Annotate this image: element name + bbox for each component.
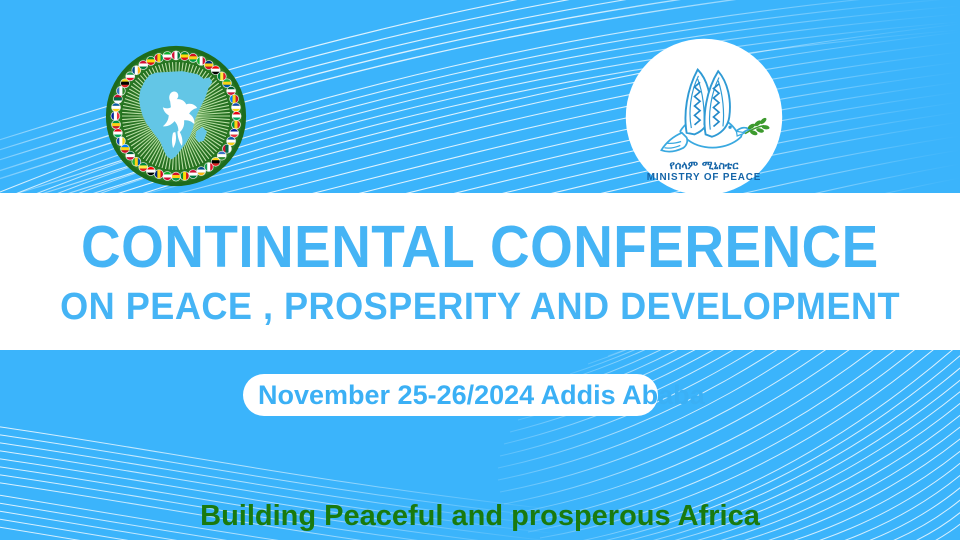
member-flag-roundel [171, 51, 180, 60]
african-union-emblem [103, 43, 249, 189]
logo-label-english: MINISTRY OF PEACE [647, 172, 761, 183]
member-flag-roundel [154, 53, 163, 62]
member-flag-roundel [231, 120, 240, 129]
member-flag-roundel [226, 86, 235, 95]
member-flag-roundel [171, 172, 180, 181]
member-flag-roundel [188, 169, 197, 178]
member-flag-roundel [116, 136, 125, 145]
member-flag-roundel [231, 103, 240, 112]
member-flag-roundel [111, 103, 120, 112]
member-flag-roundel [180, 51, 189, 60]
member-flag-roundel [232, 111, 241, 120]
member-flag-roundel [146, 56, 155, 65]
conference-banner: የሰላም ሚኒስቴር MINISTRY OF PEACE CONTINENTAL… [0, 0, 960, 540]
tagline: Building Peaceful and prosperous Africa [0, 499, 960, 533]
ministry-of-peace-logo: የሰላም ሚኒስቴር MINISTRY OF PEACE [625, 38, 783, 196]
member-flag-roundel [113, 128, 122, 137]
date-location-text: November 25-26/2024 Addis Ababa [258, 378, 705, 412]
logo-label-amharic: የሰላም ሚኒስቴር [669, 159, 739, 172]
title-band: CONTINENTAL CONFERENCE ON PEACE , PROSPE… [0, 193, 960, 350]
page-subtitle: ON PEACE , PROSPERITY AND DEVELOPMENT [60, 288, 900, 326]
member-flag-roundel [229, 94, 238, 103]
member-flag-roundel [188, 53, 197, 62]
member-flag-roundel [154, 169, 163, 178]
member-flag-roundel [113, 94, 122, 103]
member-flag-roundel [196, 166, 205, 175]
member-flag-roundel [229, 128, 238, 137]
member-flag-roundel [163, 171, 172, 180]
member-flag-roundel [180, 171, 189, 180]
member-flag-roundel [163, 51, 172, 60]
page-title: CONTINENTAL CONFERENCE [81, 218, 879, 277]
member-flag-roundel [111, 120, 120, 129]
member-flag-roundel [111, 111, 120, 120]
